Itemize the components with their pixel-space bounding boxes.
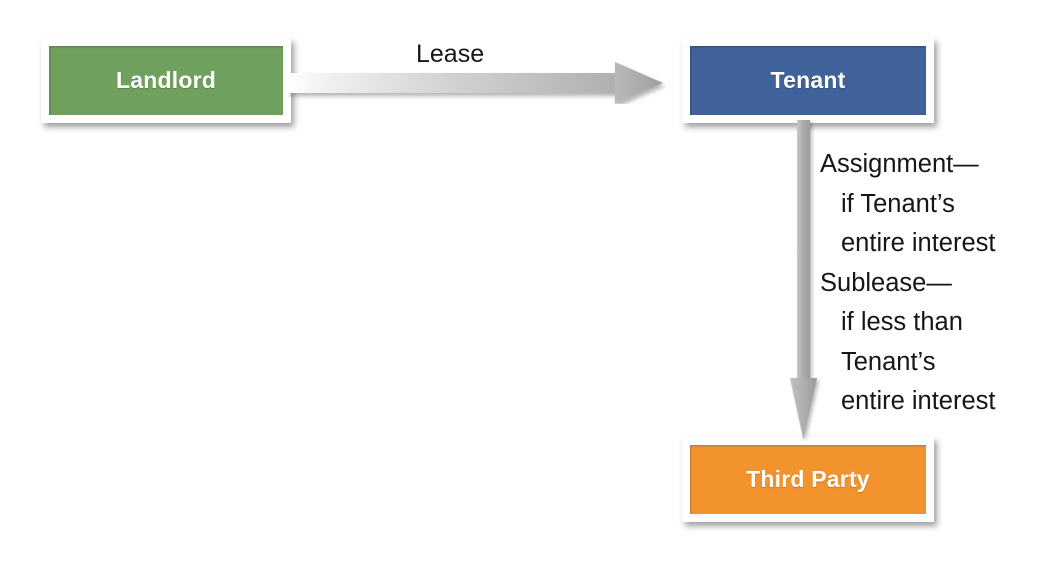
arrow-assignment-sublease: [790, 120, 824, 442]
edge-label-line: entire interest: [820, 224, 996, 264]
node-tenant-fill: Tenant: [690, 46, 926, 115]
arrow-assignment-stem: [797, 120, 810, 392]
node-third-party[interactable]: Third Party: [682, 437, 934, 522]
edge-label-line: if less than: [820, 303, 996, 343]
node-tenant-label: Tenant: [771, 67, 846, 94]
edge-label-lease: Lease: [416, 40, 484, 69]
arrow-lease-stem: [288, 73, 618, 93]
edge-label-line: Sublease—: [820, 264, 996, 304]
arrow-lease-head: [615, 62, 663, 104]
edge-label-line: Assignment—: [820, 145, 996, 185]
node-landlord-fill: Landlord: [49, 46, 283, 115]
edge-label-line: Tenant’s: [820, 343, 996, 383]
node-landlord[interactable]: Landlord: [41, 38, 291, 123]
edge-label-line: entire interest: [820, 382, 996, 422]
node-third-party-fill: Third Party: [690, 445, 926, 514]
edge-label-line: if Tenant’s: [820, 185, 996, 225]
arrow-assignment-head: [790, 378, 817, 440]
node-tenant[interactable]: Tenant: [682, 38, 934, 123]
node-landlord-label: Landlord: [116, 67, 216, 94]
edge-label-assignment-sublease: Assignment— if Tenant’s entire interest …: [820, 145, 996, 422]
node-third-party-label: Third Party: [746, 466, 870, 493]
diagram-canvas: Landlord Tenant Third Party: [0, 0, 1039, 563]
